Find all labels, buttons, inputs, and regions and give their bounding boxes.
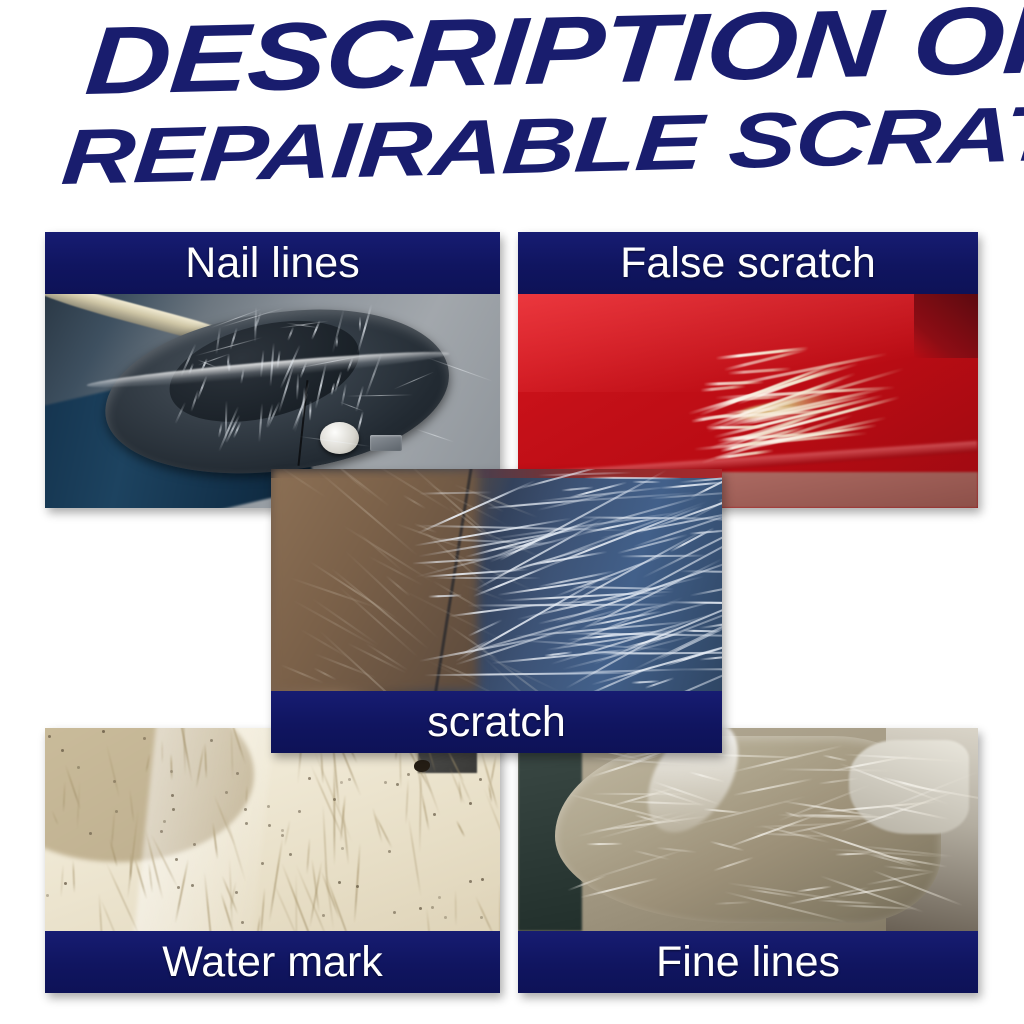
card-fine-lines[interactable]: Fine lines: [518, 728, 978, 993]
card-false-scratch[interactable]: False scratch: [518, 232, 978, 508]
card-scratch[interactable]: scratch: [271, 469, 722, 753]
card-label-water-mark: Water mark: [45, 931, 500, 993]
photo-scratch: [271, 469, 722, 691]
infographic-root: DESCRIPTION OF REPAIRABLE SCRATCHES Nail…: [0, 0, 1024, 1024]
card-label-scratch: scratch: [271, 691, 722, 753]
ground-surface: [702, 472, 978, 508]
card-label-false-scratch: False scratch: [518, 232, 978, 294]
photo-water-mark: [45, 728, 500, 931]
card-label-fine-lines: Fine lines: [518, 931, 978, 993]
handle-keyhole: [370, 435, 402, 451]
photo-fine-lines: [518, 728, 978, 931]
card-nail-lines[interactable]: Nail lines: [45, 232, 500, 508]
page-title: DESCRIPTION OF REPAIRABLE SCRATCHES: [0, 0, 1024, 210]
panel-shadow-edge: [914, 294, 978, 358]
card-water-mark[interactable]: Water mark: [45, 728, 500, 993]
card-label-nail-lines: Nail lines: [45, 232, 500, 294]
